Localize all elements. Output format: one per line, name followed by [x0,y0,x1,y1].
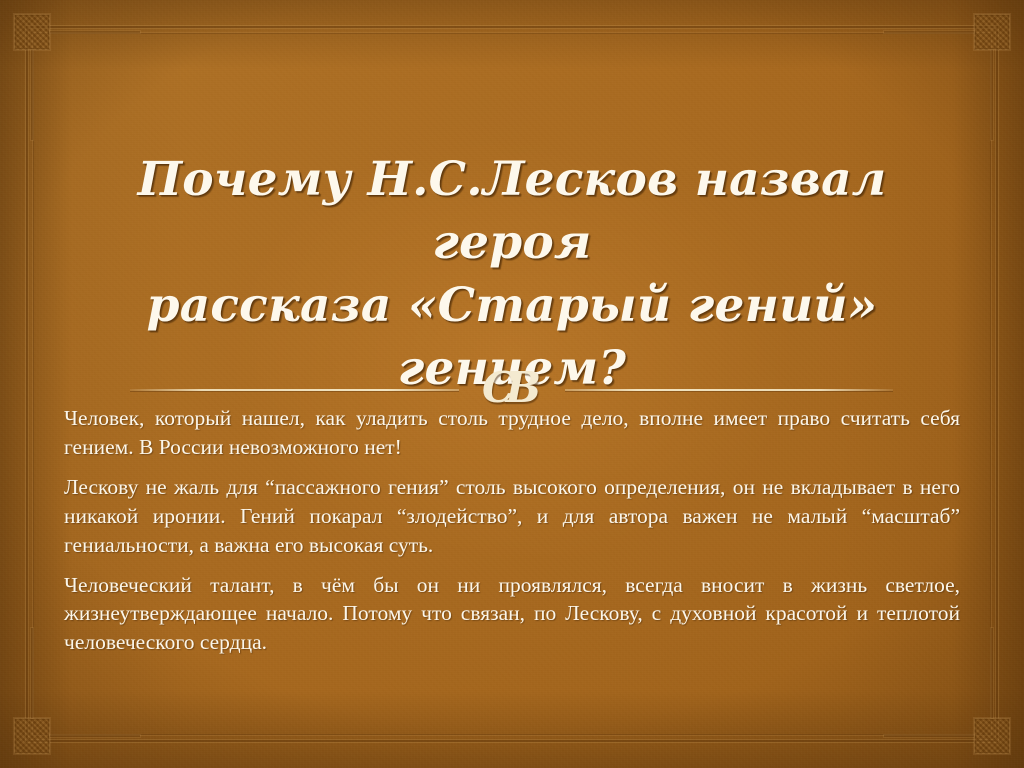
slide-body: Человек, который нашел, как уладить стол… [64,404,960,657]
corner-ornament-top-left-icon [14,14,50,50]
corner-ornament-bottom-right-icon [974,718,1010,754]
corner-ornament-bottom-left-icon [14,718,50,754]
frame-stem-top-left [50,31,140,33]
frame-stem-top-right [884,31,974,33]
body-paragraph: Человеческий талант, в чём бы он ни проя… [64,571,960,658]
frame-stem-right-top [991,50,993,140]
fleuron-ornament-icon: CB [459,367,565,409]
body-paragraph: Лескову не жаль для “пассажного гения” с… [64,473,960,560]
frame-stem-right-bottom [991,628,993,718]
corner-ornament-top-right-icon [974,14,1010,50]
divider-rule-right [565,389,894,391]
frame-stem-bottom-right [884,735,974,737]
slide: Почему Н.С.Лесков назвал героя рассказа … [0,0,1024,768]
body-paragraph: Человек, который нашел, как уладить стол… [64,404,960,462]
divider-rule-left [130,389,459,391]
frame-stem-bottom-left [50,735,140,737]
frame-stem-left-bottom [31,628,33,718]
frame-stem-left-top [31,50,33,140]
